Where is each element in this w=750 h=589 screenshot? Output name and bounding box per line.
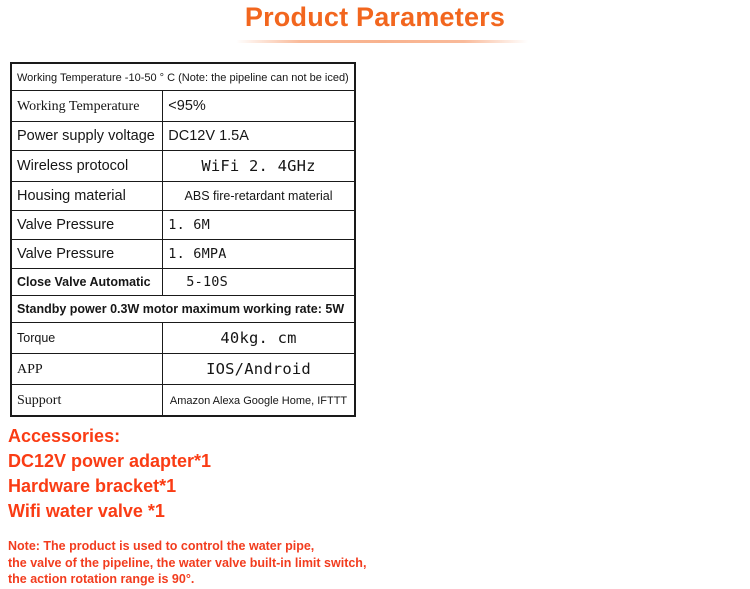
spec-key-cell: Torque [11, 323, 163, 354]
spec-value-cell: DC12V 1.5A [163, 122, 355, 151]
table-row: Valve Pressure 1. 6MPA [11, 240, 355, 269]
spec-key: Support [17, 393, 61, 408]
table-row: Standby power 0.3W motor maximum working… [11, 296, 355, 323]
spec-value-cell: ABS fire-retardant material [163, 182, 355, 211]
product-photo: 300 WOG [380, 55, 750, 535]
accessories-block: Accessories: DC12V power adapter*1 Hardw… [8, 424, 408, 524]
spec-value-cell: Amazon Alexa Google Home, IFTTT [163, 385, 355, 417]
spec-key-cell: Wireless protocol [11, 151, 163, 182]
spec-key: Housing material [17, 188, 126, 204]
spec-key: Working Temperature [17, 99, 139, 114]
spec-key-cell: Valve Pressure [11, 211, 163, 240]
spec-value: 5-10S [186, 274, 228, 290]
table-row: Power supply voltage DC12V 1.5A [11, 122, 355, 151]
spec-full-cell: Standby power 0.3W motor maximum working… [11, 296, 355, 323]
spec-full-cell: Working Temperature -10-50 ° C (Note: th… [11, 63, 355, 91]
spec-value-cell: 1. 6M [163, 211, 355, 240]
spec-value: 1. 6MPA [168, 246, 226, 262]
spec-value: ABS fire-retardant material [185, 189, 333, 203]
spec-value-cell: 40kg. cm [163, 323, 355, 354]
spec-value-cell: IOS/Android [163, 354, 355, 385]
note-line: the action rotation range is 90°. [8, 571, 408, 588]
title-underline-rule [236, 40, 528, 43]
spec-value-cell: 1. 6MPA [163, 240, 355, 269]
page-title-container: Product Parameters [0, 2, 750, 33]
spec-key-cell: Close Valve Automatic [11, 269, 163, 296]
spec-full-text: Standby power 0.3W motor maximum working… [17, 302, 344, 316]
spec-value: <95% [168, 98, 206, 114]
spec-key: Power supply voltage [17, 128, 155, 144]
accessory-item: DC12V power adapter*1 [8, 449, 408, 474]
table-row: Working Temperature <95% [11, 91, 355, 122]
spec-value: Amazon Alexa Google Home, IFTTT [170, 395, 347, 407]
specification-table: Working Temperature -10-50 ° C (Note: th… [10, 62, 356, 417]
table-row: Working Temperature -10-50 ° C (Note: th… [11, 63, 355, 91]
spec-value: DC12V 1.5A [168, 128, 249, 144]
spec-key-cell: Housing material [11, 182, 163, 211]
table-row: Wireless protocol WiFi 2. 4GHz [11, 151, 355, 182]
spec-value: IOS/Android [206, 360, 311, 378]
spec-key: Valve Pressure [17, 217, 114, 233]
spec-value-cell: 5-10S [163, 269, 355, 296]
product-note: Note: The product is used to control the… [8, 538, 408, 588]
table-row: Close Valve Automatic 5-10S [11, 269, 355, 296]
table-row: Torque 40kg. cm [11, 323, 355, 354]
product-parameters-page: Product Parameters Working Temperature -… [0, 0, 750, 589]
spec-key: Wireless protocol [17, 158, 128, 174]
spec-key: Close Valve Automatic [17, 275, 151, 289]
spec-full-text: Working Temperature -10-50 ° C (Note: th… [17, 72, 349, 84]
spec-value-cell: <95% [163, 91, 355, 122]
spec-value: 40kg. cm [220, 329, 296, 347]
table-row: Housing material ABS fire-retardant mate… [11, 182, 355, 211]
spec-key: Torque [17, 331, 55, 345]
spec-value: 1. 6M [168, 217, 210, 233]
spec-key: APP [17, 362, 43, 377]
note-line: Note: The product is used to control the… [8, 538, 408, 555]
page-title: Product Parameters [241, 2, 509, 33]
spec-key-cell: Power supply voltage [11, 122, 163, 151]
note-line: the valve of the pipeline, the water val… [8, 555, 408, 572]
specification-table-body: Working Temperature -10-50 ° C (Note: th… [11, 63, 355, 416]
table-row: Support Amazon Alexa Google Home, IFTTT [11, 385, 355, 417]
spec-key-cell: Valve Pressure [11, 240, 163, 269]
spec-value: WiFi 2. 4GHz [201, 157, 315, 175]
table-row: Valve Pressure 1. 6M [11, 211, 355, 240]
accessory-item: Wifi water valve *1 [8, 499, 408, 524]
spec-key-cell: APP [11, 354, 163, 385]
accessories-heading: Accessories: [8, 424, 408, 449]
spec-key-cell: Support [11, 385, 163, 417]
spec-key: Valve Pressure [17, 246, 114, 262]
spec-key-cell: Working Temperature [11, 91, 163, 122]
spec-value-cell: WiFi 2. 4GHz [163, 151, 355, 182]
accessory-item: Hardware bracket*1 [8, 474, 408, 499]
table-row: APP IOS/Android [11, 354, 355, 385]
